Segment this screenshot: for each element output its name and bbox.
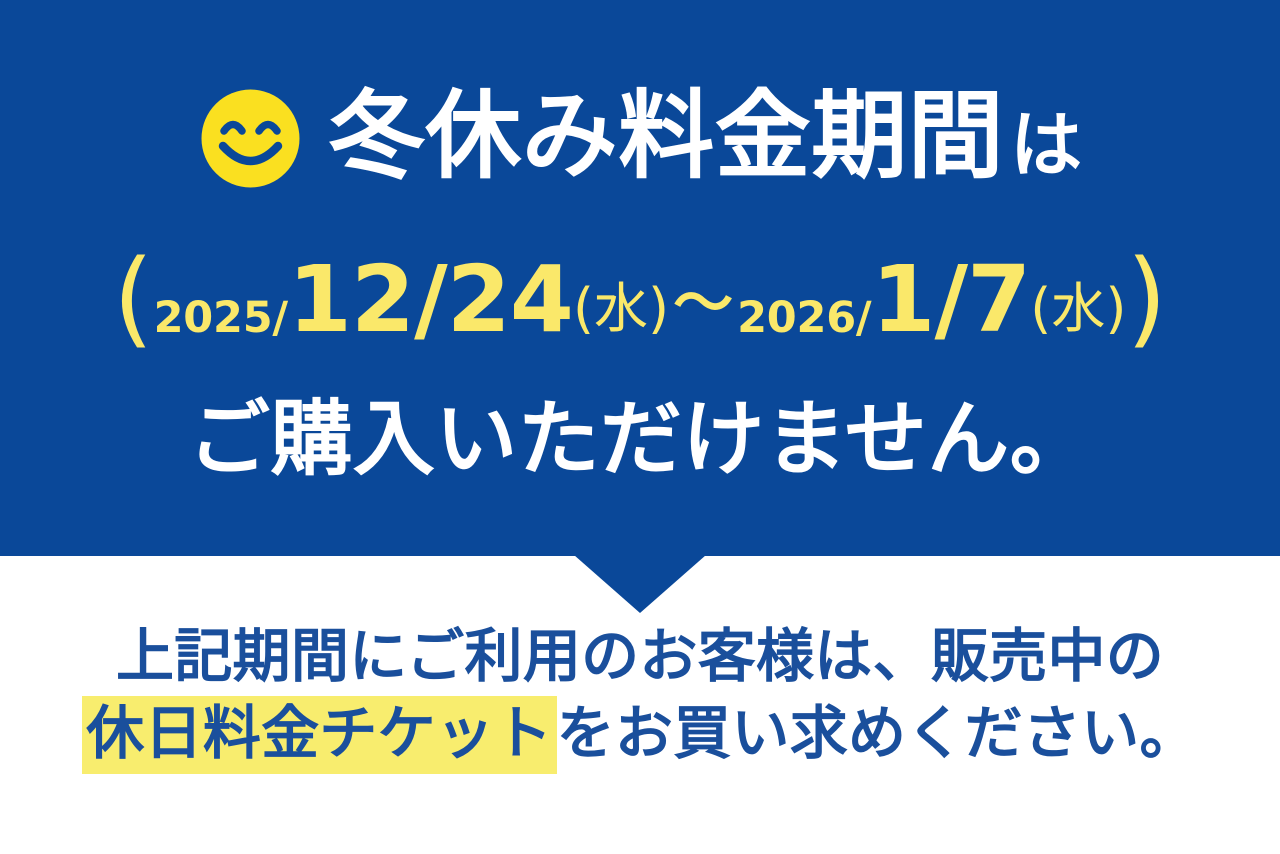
headline-main-text: 冬休み料金期間 xyxy=(329,88,1004,184)
end-year-label: 2026/ xyxy=(737,297,871,340)
date-range-row: ( 2025/ 12/24 (水) 〜 2026/ 1/7 (水) ) xyxy=(0,240,1280,360)
date-close-paren: ) xyxy=(1126,246,1167,350)
explanation-line-2-rest: をお買い求めください。 xyxy=(557,699,1198,767)
explanation-line-1: 上記期間にご利用のお客様は、販売中の xyxy=(0,618,1280,695)
end-date-label: 1/7 xyxy=(871,254,1030,346)
start-year-label: 2025/ xyxy=(154,297,288,340)
explanation-line-2: 休日料金チケットをお買い求めください。 xyxy=(0,695,1280,772)
date-range-separator: 〜 xyxy=(669,274,737,334)
headline-row: 冬休み料金期間 は xyxy=(0,66,1280,206)
conclusion-text: ご購入いただけません。 xyxy=(188,399,1092,481)
start-date-label: 12/24 xyxy=(288,254,573,346)
explanation-block: 上記期間にご利用のお客様は、販売中の 休日料金チケットをお買い求めください。 xyxy=(0,618,1280,771)
date-open-paren: ( xyxy=(113,246,154,350)
end-day-of-week-label: (水) xyxy=(1030,282,1126,336)
winter-fare-notice-page: 冬休み料金期間 は ( 2025/ 12/24 (水) 〜 2026/ 1/7 … xyxy=(0,0,1280,854)
conclusion-row: ご購入いただけません。 xyxy=(0,385,1280,495)
headline-suffix-text: は xyxy=(1004,109,1082,181)
callout-panel: 冬休み料金期間 は ( 2025/ 12/24 (水) 〜 2026/ 1/7 … xyxy=(0,0,1280,556)
start-day-of-week-label: (水) xyxy=(573,282,669,336)
holiday-fare-ticket-highlight: 休日料金チケット xyxy=(82,696,556,774)
callout-tail-triangle xyxy=(574,555,706,613)
smiling-face-icon xyxy=(198,86,303,191)
